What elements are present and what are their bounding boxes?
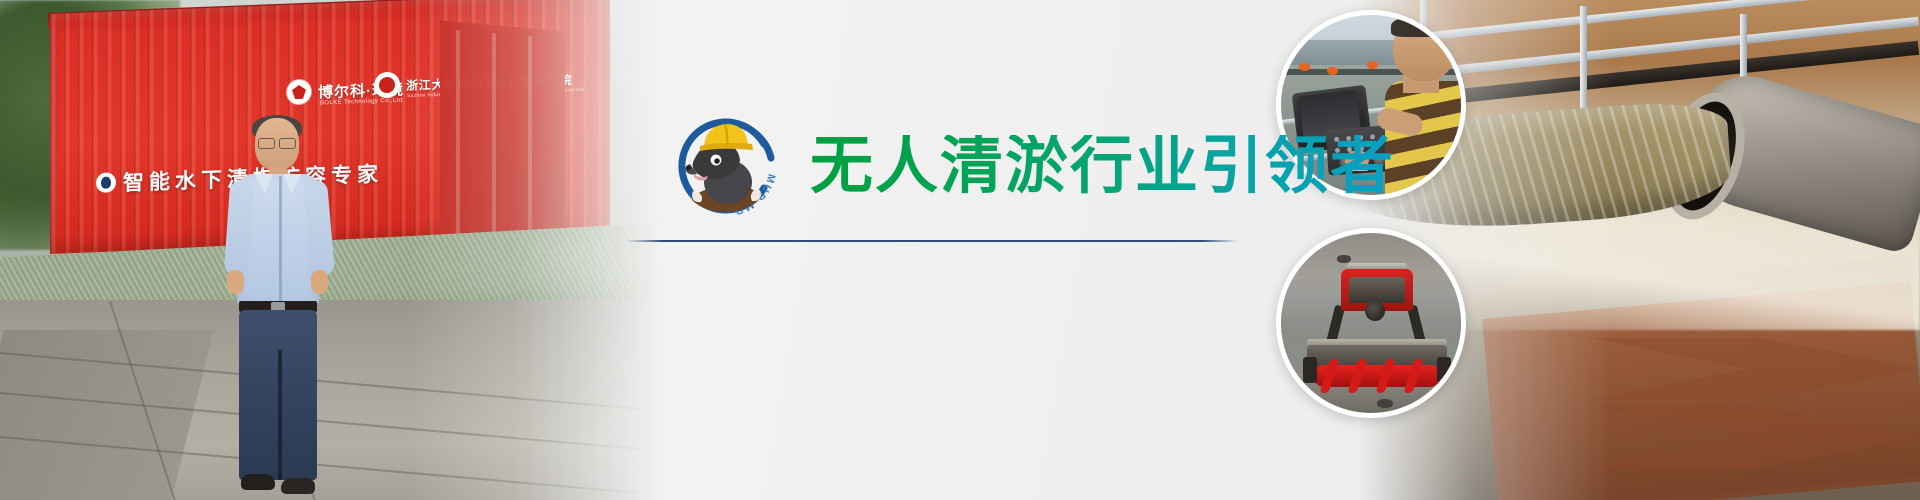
headline: 无人清淤行业引领者	[810, 135, 1395, 198]
slogan-badge-icon	[96, 172, 116, 193]
logo-and-headline: MUD MOLE	[668, 108, 1395, 224]
robot-body	[1349, 277, 1405, 303]
shirt-placket	[279, 176, 282, 304]
hero-banner: 博尔科·环境 BOLKE Technology Co.,Ltd. 浙江大学苏州工…	[0, 0, 1920, 500]
auger-bearing-left	[1303, 357, 1317, 383]
shoe-right	[281, 478, 315, 494]
auger-bearing-right	[1437, 357, 1451, 383]
leg-split	[278, 350, 282, 480]
photo-dredging-robot	[1276, 228, 1466, 418]
center-content: MUD MOLE	[640, 0, 1300, 500]
man-walking	[225, 118, 335, 498]
hand-left	[227, 270, 244, 294]
container-door-end	[440, 21, 565, 260]
robot-wheel	[1365, 301, 1385, 321]
shoe-left	[241, 474, 275, 490]
mud-mole-logo: MUD MOLE	[668, 108, 784, 224]
divider-line	[626, 240, 1238, 242]
left-photo: 博尔科·环境 BOLKE Technology Co.,Ltd. 浙江大学苏州工…	[0, 0, 660, 500]
eyeglasses-icon	[258, 138, 296, 147]
operator-hair	[1391, 15, 1455, 37]
hand-right	[311, 270, 328, 294]
operator-torso	[1385, 81, 1466, 200]
